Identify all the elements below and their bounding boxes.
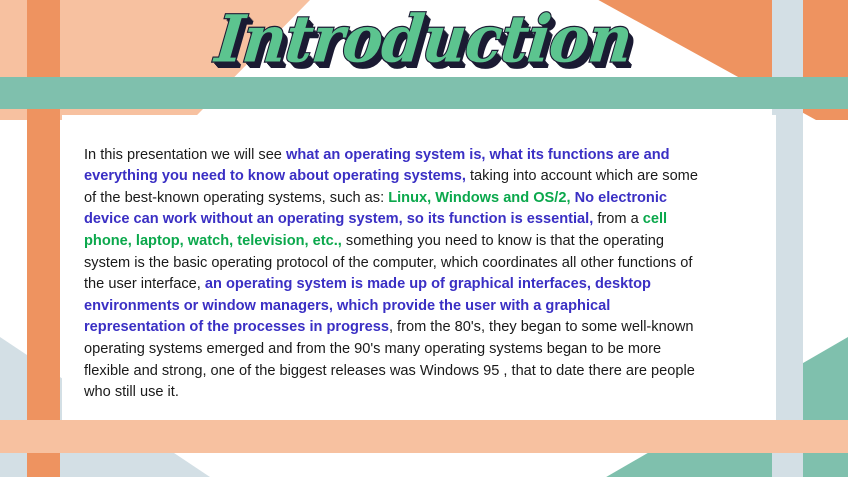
body-paragraph: In this presentation we will see what an…: [84, 145, 708, 404]
right-bluegray-vertical-bar: [772, 0, 803, 477]
body-segment-green: Linux, Windows and OS/2,: [388, 190, 570, 206]
slide-canvas: Introduction In this presentation we wil…: [0, 0, 848, 477]
bottom-peach-horizontal-bar: [0, 420, 848, 453]
top-teal-horizontal-bar: [0, 77, 848, 109]
body-segment-plain: In this presentation we will see: [84, 147, 286, 163]
left-orange-vertical-bar: [27, 0, 60, 477]
body-segment-plain: from a: [593, 211, 642, 227]
